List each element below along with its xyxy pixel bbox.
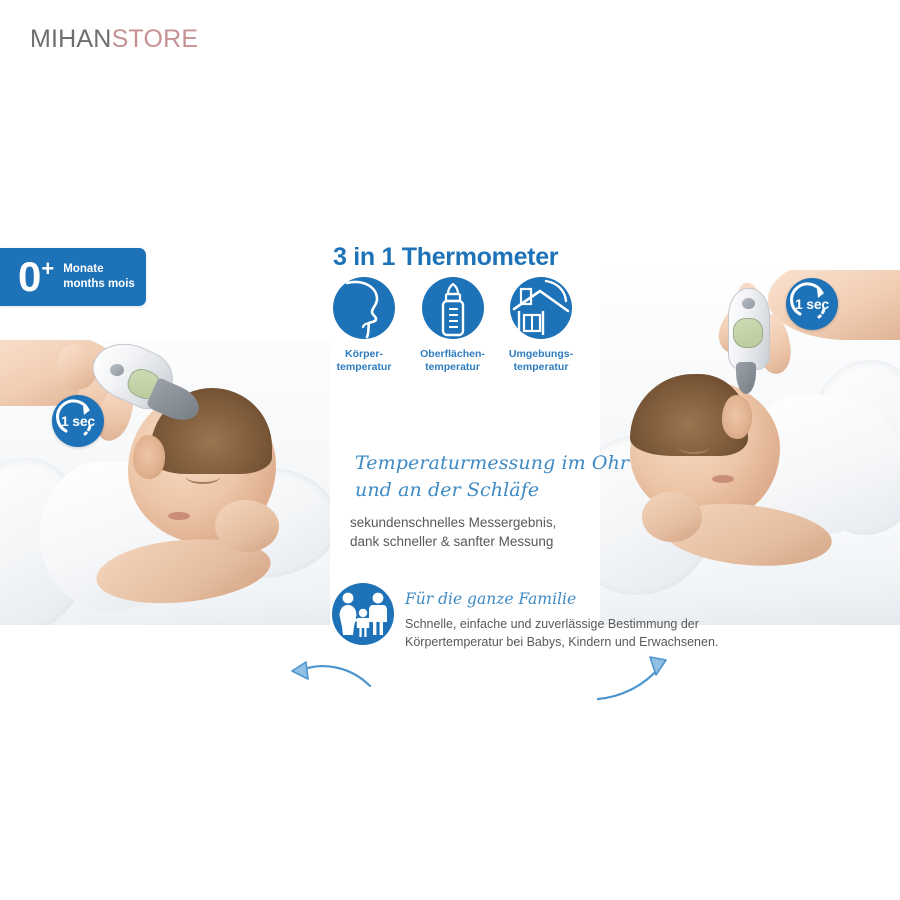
age-badge-plus: +: [41, 258, 54, 280]
feature-surface-temperature: Oberflächen- temperatur: [414, 277, 492, 374]
baby-hand: [215, 500, 279, 552]
baby-temple-measurement-photo: [600, 270, 900, 625]
feature-icon-row: Körper- temperatur Oberflächen- temperat…: [325, 277, 580, 374]
baby-eye: [186, 470, 220, 484]
face-profile-icon: [333, 277, 395, 339]
family-description: Schnelle, einfache und zuverlässige Best…: [405, 615, 718, 651]
feature-body-temperature: Körper- temperatur: [325, 277, 403, 374]
one-second-badge-left: 1 sec: [52, 395, 104, 447]
callout-headline: Temperaturmessung im Ohr und an der Schl…: [355, 450, 629, 504]
baby-eye: [678, 440, 710, 454]
one-second-badge-right: 1 sec: [786, 278, 838, 330]
feature-label: Oberflächen- temperatur: [414, 348, 492, 374]
age-badge: 0 + Monate months mois: [0, 248, 146, 306]
feature-label: Umgebungs- temperatur: [502, 348, 580, 374]
pointer-arrow-right-icon: [596, 655, 688, 705]
brand-logo-part1: MIHAN: [30, 25, 112, 53]
feature-ambient-temperature: Umgebungs- temperatur: [502, 277, 580, 374]
baby-hand: [642, 492, 702, 542]
one-second-badge-label: 1 sec: [786, 296, 838, 312]
house-sun-icon: [510, 277, 572, 339]
baby-mouth: [712, 475, 734, 483]
age-badge-number: 0: [18, 256, 40, 298]
baby-ear-measurement-photo: [0, 340, 330, 625]
brand-logo-part2: STORE: [112, 25, 199, 53]
age-badge-words: Monate months mois: [63, 262, 146, 292]
pointer-arrow-left-icon: [286, 660, 372, 694]
baby-bottle-icon: [422, 277, 484, 339]
page-title: 3 in 1 Thermometer: [333, 243, 558, 272]
baby-mouth: [168, 512, 190, 520]
family-group-icon: [332, 583, 394, 645]
thermometer-button: [742, 298, 755, 309]
thermometer-display: [733, 318, 763, 348]
baby-ear: [133, 435, 165, 479]
thermometer-button: [110, 364, 124, 376]
promo-banner: 0 + Monate months mois 1 sec 1 sec 3 in …: [0, 215, 900, 625]
family-title: Für die ganze Familie: [405, 590, 576, 608]
baby-ear: [722, 395, 752, 439]
brand-logo[interactable]: MIHANSTORE: [30, 25, 198, 54]
one-second-badge-label: 1 sec: [52, 413, 104, 429]
thermometer-tip: [736, 362, 756, 394]
feature-label: Körper- temperatur: [325, 348, 403, 374]
callout-subtext: sekundenschnelles Messergebnis, dank sch…: [350, 513, 556, 551]
